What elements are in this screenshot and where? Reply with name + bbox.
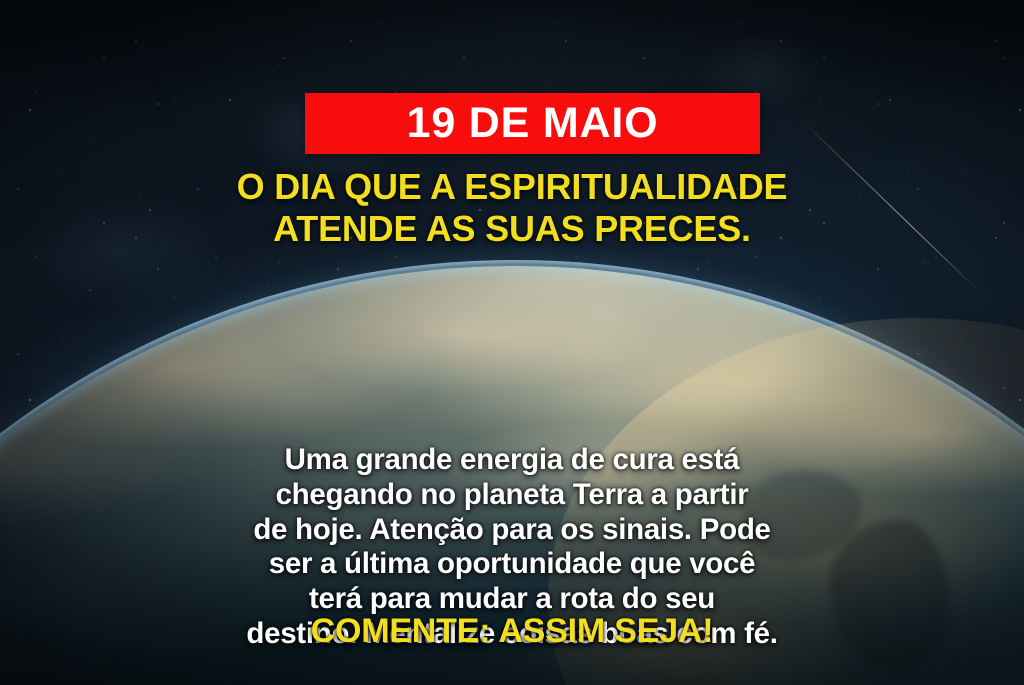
date-banner-label: 19 DE MAIO bbox=[407, 102, 659, 145]
headline-line-2: ATENDE AS SUAS PRECES. bbox=[48, 208, 976, 250]
body-copy-line: de hoje. Atenção para os sinais. Pode bbox=[58, 513, 966, 548]
headline: O DIA QUE A ESPIRITUALIDADE ATENDE AS SU… bbox=[0, 166, 1024, 251]
headline-line-1: O DIA QUE A ESPIRITUALIDADE bbox=[237, 166, 788, 207]
body-copy-line: chegando no planeta Terra a partir bbox=[58, 478, 966, 513]
call-to-action-label: COMENTE: ASSIM SEJA! bbox=[311, 612, 714, 650]
call-to-action: COMENTE: ASSIM SEJA! bbox=[0, 613, 1024, 650]
body-copy-line: ser a última oportunidade que você bbox=[58, 547, 966, 582]
poster-canvas: 19 DE MAIO O DIA QUE A ESPIRITUALIDADE A… bbox=[0, 0, 1024, 685]
date-banner: 19 DE MAIO bbox=[305, 93, 760, 154]
poster-content: 19 DE MAIO O DIA QUE A ESPIRITUALIDADE A… bbox=[0, 0, 1024, 685]
body-copy-line: Uma grande energia de cura está bbox=[58, 443, 966, 478]
